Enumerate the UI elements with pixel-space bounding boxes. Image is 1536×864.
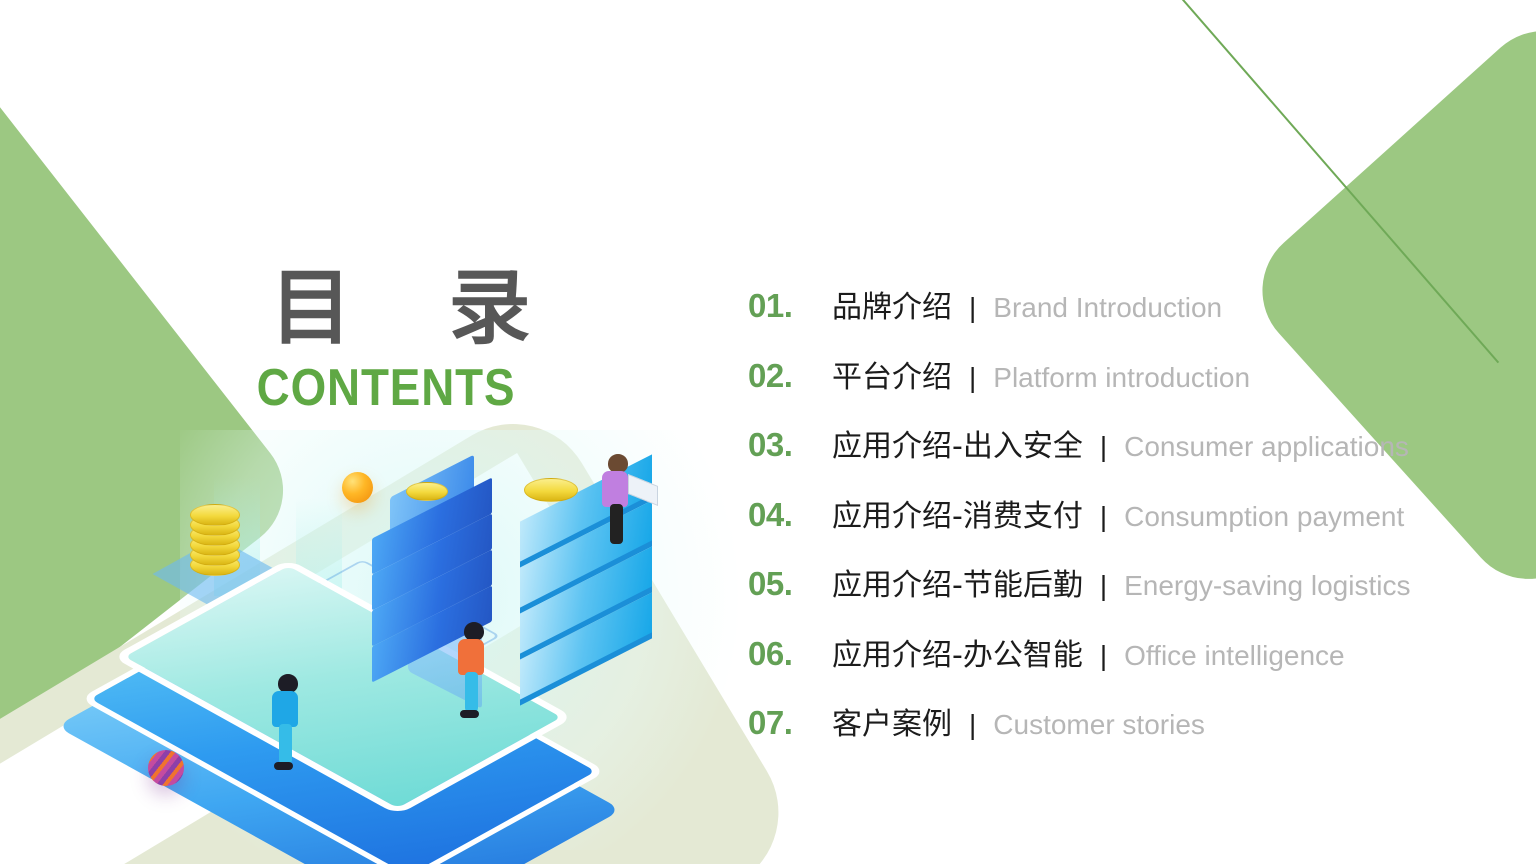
tower-top-coin-icon <box>406 482 448 501</box>
item-number: 07. <box>748 704 832 742</box>
contents-item-06[interactable]: 06. 应用介绍-办公智能 | Office intelligence <box>748 630 1488 700</box>
item-label-en: Energy-saving logistics <box>1124 570 1410 602</box>
item-label-cn: 应用介绍-出入安全 <box>832 421 1083 465</box>
purple-striped-sphere-icon <box>148 750 184 786</box>
orange-sphere-icon <box>342 472 373 503</box>
item-label-cn: 应用介绍-节能后勤 <box>832 560 1083 604</box>
contents-item-04[interactable]: 04. 应用介绍-消费支付 | Consumption payment <box>748 491 1488 561</box>
item-label-cn: 应用介绍-消费支付 <box>832 491 1083 535</box>
item-number: 06. <box>748 635 832 673</box>
item-separator: | <box>1100 640 1107 672</box>
item-label-en: Consumer applications <box>1124 431 1409 463</box>
page-title-cn: 目 录 <box>236 266 536 352</box>
chevron-tower-coin-icon <box>524 478 578 502</box>
contents-item-03[interactable]: 03. 应用介绍-出入安全 | Consumer applications <box>748 421 1488 491</box>
item-label-cn: 品牌介绍 <box>832 282 952 326</box>
item-label-en: Customer stories <box>993 709 1205 741</box>
item-number: 05. <box>748 565 832 603</box>
item-label-cn: 客户案例 <box>832 699 952 743</box>
item-separator: | <box>969 362 976 394</box>
item-label-en: Platform introduction <box>993 362 1250 394</box>
isometric-illustration <box>120 440 760 864</box>
item-separator: | <box>969 709 976 741</box>
item-number: 04. <box>748 496 832 534</box>
item-number: 01. <box>748 287 832 325</box>
item-label-cn: 平台介绍 <box>832 352 952 396</box>
item-number: 03. <box>748 426 832 464</box>
item-separator: | <box>1100 431 1107 463</box>
item-label-en: Consumption payment <box>1124 501 1404 533</box>
title-block: 目 录 CONTENTS <box>236 266 536 418</box>
item-number: 02. <box>748 357 832 395</box>
slide-canvas: 目 录 CONTENTS 01. 品牌介绍 | Brand Introducti… <box>0 0 1536 864</box>
page-title-en: CONTENTS <box>254 358 518 418</box>
contents-item-01[interactable]: 01. 品牌介绍 | Brand Introduction <box>748 282 1488 352</box>
item-label-en: Brand Introduction <box>993 292 1222 324</box>
contents-item-02[interactable]: 02. 平台介绍 | Platform introduction <box>748 352 1488 422</box>
contents-list: 01. 品牌介绍 | Brand Introduction 02. 平台介绍 |… <box>748 282 1488 769</box>
item-separator: | <box>969 292 976 324</box>
contents-item-05[interactable]: 05. 应用介绍-节能后勤 | Energy-saving logistics <box>748 560 1488 630</box>
item-separator: | <box>1100 570 1107 602</box>
item-label-en: Office intelligence <box>1124 640 1345 672</box>
item-label-cn: 应用介绍-办公智能 <box>832 630 1083 674</box>
blue-chevron-tower <box>520 476 652 706</box>
item-separator: | <box>1100 501 1107 533</box>
contents-item-07[interactable]: 07. 客户案例 | Customer stories <box>748 699 1488 769</box>
